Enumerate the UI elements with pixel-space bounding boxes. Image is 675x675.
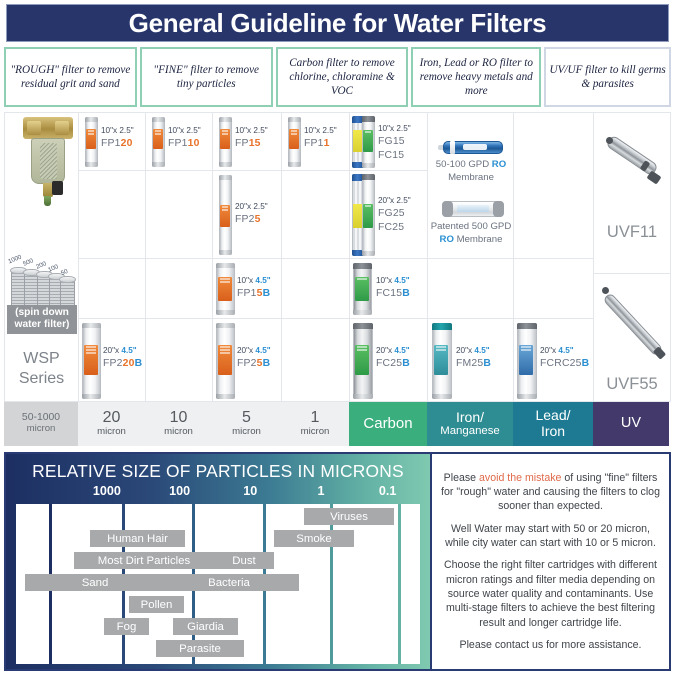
particle-bar-viruses: Viruses bbox=[304, 508, 394, 525]
particle-bar-most-dirt-particles: Most Dirt Particles bbox=[74, 552, 214, 569]
micron-cell-10[interactable]: 10 micron bbox=[145, 402, 212, 446]
micron-cell-iron-manganese[interactable]: Iron/ Manganese bbox=[427, 402, 513, 446]
column-20-micron: 10"x 2.5" FP120 20"x 4.5" FP220B bbox=[79, 113, 146, 401]
chart-tick-1: 1 bbox=[318, 484, 325, 498]
cartridge-fp15b-image bbox=[216, 263, 235, 315]
label-fc25b: 20"x 4.5" FC25B bbox=[376, 345, 410, 371]
label-fp15: 10"x 2.5" FP15 bbox=[235, 125, 268, 151]
label-fp15b: 10"x 4.5" FP15B bbox=[237, 275, 271, 301]
description-box-metals: Iron, Lead or RO filter to remove heavy … bbox=[411, 47, 541, 107]
description-box-rough: "ROUGH" filter to remove residual grit a… bbox=[4, 47, 137, 107]
screen-mesh-500: 500 bbox=[22, 257, 34, 267]
ro-membrane-50-100-image bbox=[443, 141, 503, 154]
cartridge-fp110-image bbox=[152, 117, 165, 167]
micron-cell-uv[interactable]: UV bbox=[593, 402, 669, 446]
screen-mesh-1000: 1000 bbox=[7, 254, 22, 266]
particle-bar-human-hair: Human Hair bbox=[90, 530, 185, 547]
column-10-micron: 10"x 2.5" FP110 bbox=[146, 113, 213, 401]
label-fp110: 10"x 2.5" FP110 bbox=[168, 125, 201, 151]
cartridge-fc15-image bbox=[362, 116, 375, 168]
spin-down-filter-image bbox=[11, 117, 73, 209]
product-grid: 1000 500 200 100 50 (spin down water fil… bbox=[4, 112, 671, 402]
description-text: Carbon filter to remove chlorine, chlora… bbox=[281, 56, 404, 98]
micron-cell-20[interactable]: 20 micron bbox=[78, 402, 145, 446]
column-uv: UVF11 UVF55 bbox=[594, 113, 670, 401]
label-fg15-fc15: 10"x 2.5" FG15 FC15 bbox=[378, 123, 411, 163]
micron-cell-carbon[interactable]: Carbon bbox=[349, 402, 427, 446]
notes-panel: Please avoid the mistake of using "fine"… bbox=[430, 454, 669, 669]
note-3: Choose the right filter cartridges with … bbox=[439, 558, 662, 629]
chart-tick-10: 10 bbox=[243, 484, 257, 498]
cartridge-fc25b-image bbox=[353, 323, 373, 399]
particle-size-chart: RELATIVE SIZE OF PARTICLES IN MICRONS 10… bbox=[6, 454, 430, 669]
micron-cell-lead-iron[interactable]: Lead/ Iron bbox=[513, 402, 593, 446]
chart-tick-1000: 1000 bbox=[93, 484, 121, 498]
label-fp25: 20"x 2.5" FP25 bbox=[235, 201, 268, 227]
cartridge-fm25b-image bbox=[432, 323, 452, 399]
label-fp11: 10"x 2.5" FP11 bbox=[304, 125, 337, 151]
micron-cell-50-1000[interactable]: 50-1000 micron bbox=[4, 402, 78, 446]
uv-label-uvf11: UVF11 bbox=[594, 223, 670, 242]
column-1-micron: 10"x 2.5" FP11 bbox=[282, 113, 350, 401]
wsp-series-line: WSP bbox=[5, 349, 78, 369]
spin-down-label: (spin down water filter) bbox=[7, 305, 77, 334]
uv-lamp-uvf11-image bbox=[598, 121, 666, 201]
note-2: Well Water may start with 50 or 20 micro… bbox=[439, 522, 662, 551]
column-carbon: 10"x 2.5" FG15 FC15 20"x 2.5" FG25 FC25 bbox=[350, 113, 428, 401]
ro-membrane-500-caption: Patented 500 GPDRO Membrane bbox=[424, 221, 518, 247]
description-text: UV/UF filter to kill germs & parasites bbox=[549, 63, 666, 91]
description-text: "ROUGH" filter to remove residual grit a… bbox=[9, 63, 132, 91]
cartridge-fp120-image bbox=[85, 117, 98, 167]
page-title: General Guideline for Water Filters bbox=[129, 8, 547, 39]
particle-bar-sand: Sand bbox=[25, 574, 165, 591]
note-1: Please avoid the mistake of using "fine"… bbox=[439, 471, 662, 514]
label-fc15b: 10"x 4.5" FC15B bbox=[376, 275, 410, 301]
description-text: Iron, Lead or RO filter to remove heavy … bbox=[416, 56, 536, 98]
description-box-carbon: Carbon filter to remove chlorine, chlora… bbox=[276, 47, 409, 107]
micron-cell-5[interactable]: 5 micron bbox=[212, 402, 281, 446]
micron-rating-bar: 50-1000 micron 20 micron 10 micron 5 mic… bbox=[4, 402, 671, 446]
column-5-micron: 10"x 2.5" FP15 20"x 2.5" FP25 10"x 4.5" … bbox=[213, 113, 282, 401]
particle-bar-smoke: Smoke bbox=[274, 530, 354, 547]
particle-bar-parasite: Parasite bbox=[156, 640, 244, 657]
particle-bar-bacteria: Bacteria bbox=[159, 574, 299, 591]
ro-membrane-50-100-caption: 50-100 GPD RO Membrane bbox=[418, 159, 524, 185]
label-fm25b: 20"x 4.5" FM25B bbox=[456, 345, 491, 371]
description-box-uv: UV/UF filter to kill germs & parasites bbox=[544, 47, 671, 107]
description-row: "ROUGH" filter to remove residual grit a… bbox=[4, 47, 671, 107]
cartridge-fcrc25b-image bbox=[517, 323, 537, 399]
cartridge-fc15b-image bbox=[353, 263, 372, 315]
particle-bar-fog: Fog bbox=[104, 618, 149, 635]
particle-bar-giardia: Giardia bbox=[173, 618, 238, 635]
label-fp25b: 20"x 4.5" FP25B bbox=[237, 345, 271, 371]
cartridge-fp15-image bbox=[219, 117, 232, 167]
cartridge-fp11-image bbox=[288, 117, 301, 167]
particle-bar-pollen: Pollen bbox=[129, 596, 184, 613]
particle-bar-dust: Dust bbox=[214, 552, 274, 569]
chart-tick-0p1: 0.1 bbox=[379, 484, 397, 498]
column-iron-manganese: 50-100 GPD RO Membrane Patented 500 GPDR… bbox=[428, 113, 514, 401]
cartridge-fp25-image bbox=[219, 175, 232, 255]
page-title-bar: General Guideline for Water Filters bbox=[6, 4, 669, 42]
ro-membrane-500-image bbox=[442, 201, 504, 217]
uv-lamp-uvf55-image bbox=[596, 281, 668, 373]
column-lead-iron: 20"x 4.5" FCRC25B bbox=[514, 113, 594, 401]
label-fcrc25b: 20"x 4.5" FCRC25B bbox=[540, 345, 589, 371]
note-4: Please contact us for more assistance. bbox=[439, 638, 662, 652]
chart-title: RELATIVE SIZE OF PARTICLES IN MICRONS bbox=[6, 461, 430, 482]
uv-label-uvf55: UVF55 bbox=[594, 375, 670, 394]
chart-gridline bbox=[330, 504, 333, 664]
bottom-panel: RELATIVE SIZE OF PARTICLES IN MICRONS 10… bbox=[4, 452, 671, 671]
wsp-series-line: Series bbox=[5, 369, 78, 389]
description-text: "FINE" filter to remove tiny particles bbox=[145, 63, 268, 91]
chart-tick-100: 100 bbox=[169, 484, 190, 498]
cartridge-fc25-image bbox=[362, 174, 375, 256]
cartridge-fp220b-image bbox=[82, 323, 101, 399]
chart-plot-area: Human HairMost Dirt ParticlesSandPollenF… bbox=[16, 504, 420, 664]
chart-gridline bbox=[398, 504, 401, 664]
screen-mesh-200: 200 bbox=[35, 260, 47, 270]
cartridge-fp25b-image bbox=[216, 323, 235, 399]
description-box-fine: "FINE" filter to remove tiny particles bbox=[140, 47, 273, 107]
micron-cell-1[interactable]: 1 micron bbox=[281, 402, 349, 446]
column-wsp: 1000 500 200 100 50 (spin down water fil… bbox=[5, 113, 79, 401]
chart-scale-ticks: 10001001010.10.01 bbox=[6, 484, 430, 501]
label-fp120: 10"x 2.5" FP120 bbox=[101, 125, 134, 151]
label-fp220b: 20"x 4.5" FP220B bbox=[103, 345, 142, 371]
label-fg25-fc25: 20"x 2.5" FG25 FC25 bbox=[378, 195, 411, 235]
wsp-series-label: WSPSeries bbox=[5, 349, 78, 389]
